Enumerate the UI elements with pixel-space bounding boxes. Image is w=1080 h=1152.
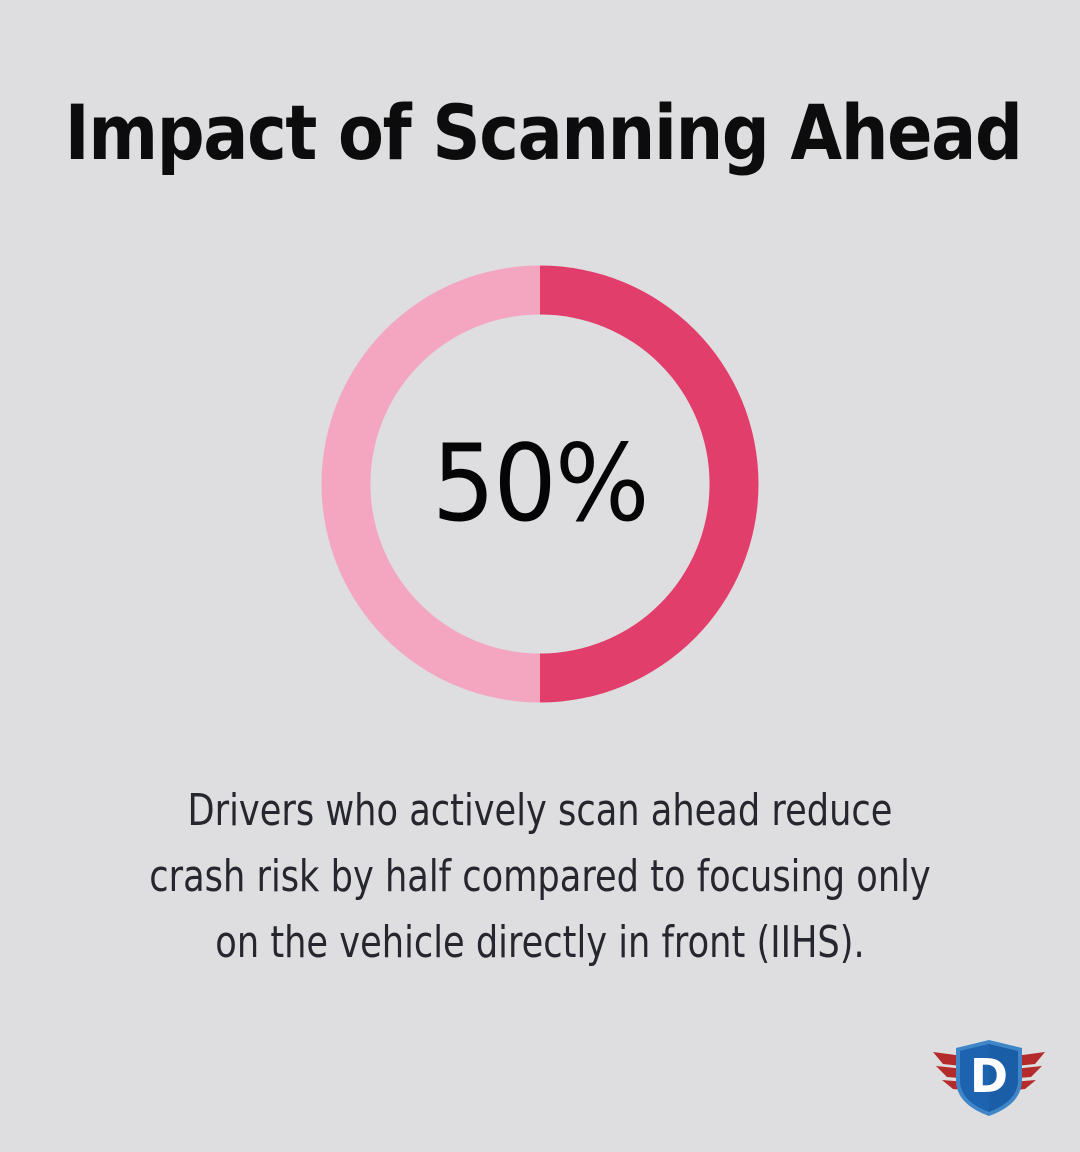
infographic-canvas: Impact of Scanning Ahead 50% Drivers who…: [0, 0, 1080, 1152]
logo-letter: D: [970, 1049, 1008, 1103]
donut-chart: 50%: [294, 238, 786, 730]
caption-text: Drivers who actively scan ahead reduce c…: [148, 778, 932, 976]
winged-shield-logo-icon: D: [930, 1034, 1048, 1120]
donut-hole: [370, 314, 709, 653]
page-title: Impact of Scanning Ahead: [65, 88, 1015, 178]
donut-chart-svg: [294, 238, 786, 730]
brand-logo: D: [930, 1034, 1048, 1120]
